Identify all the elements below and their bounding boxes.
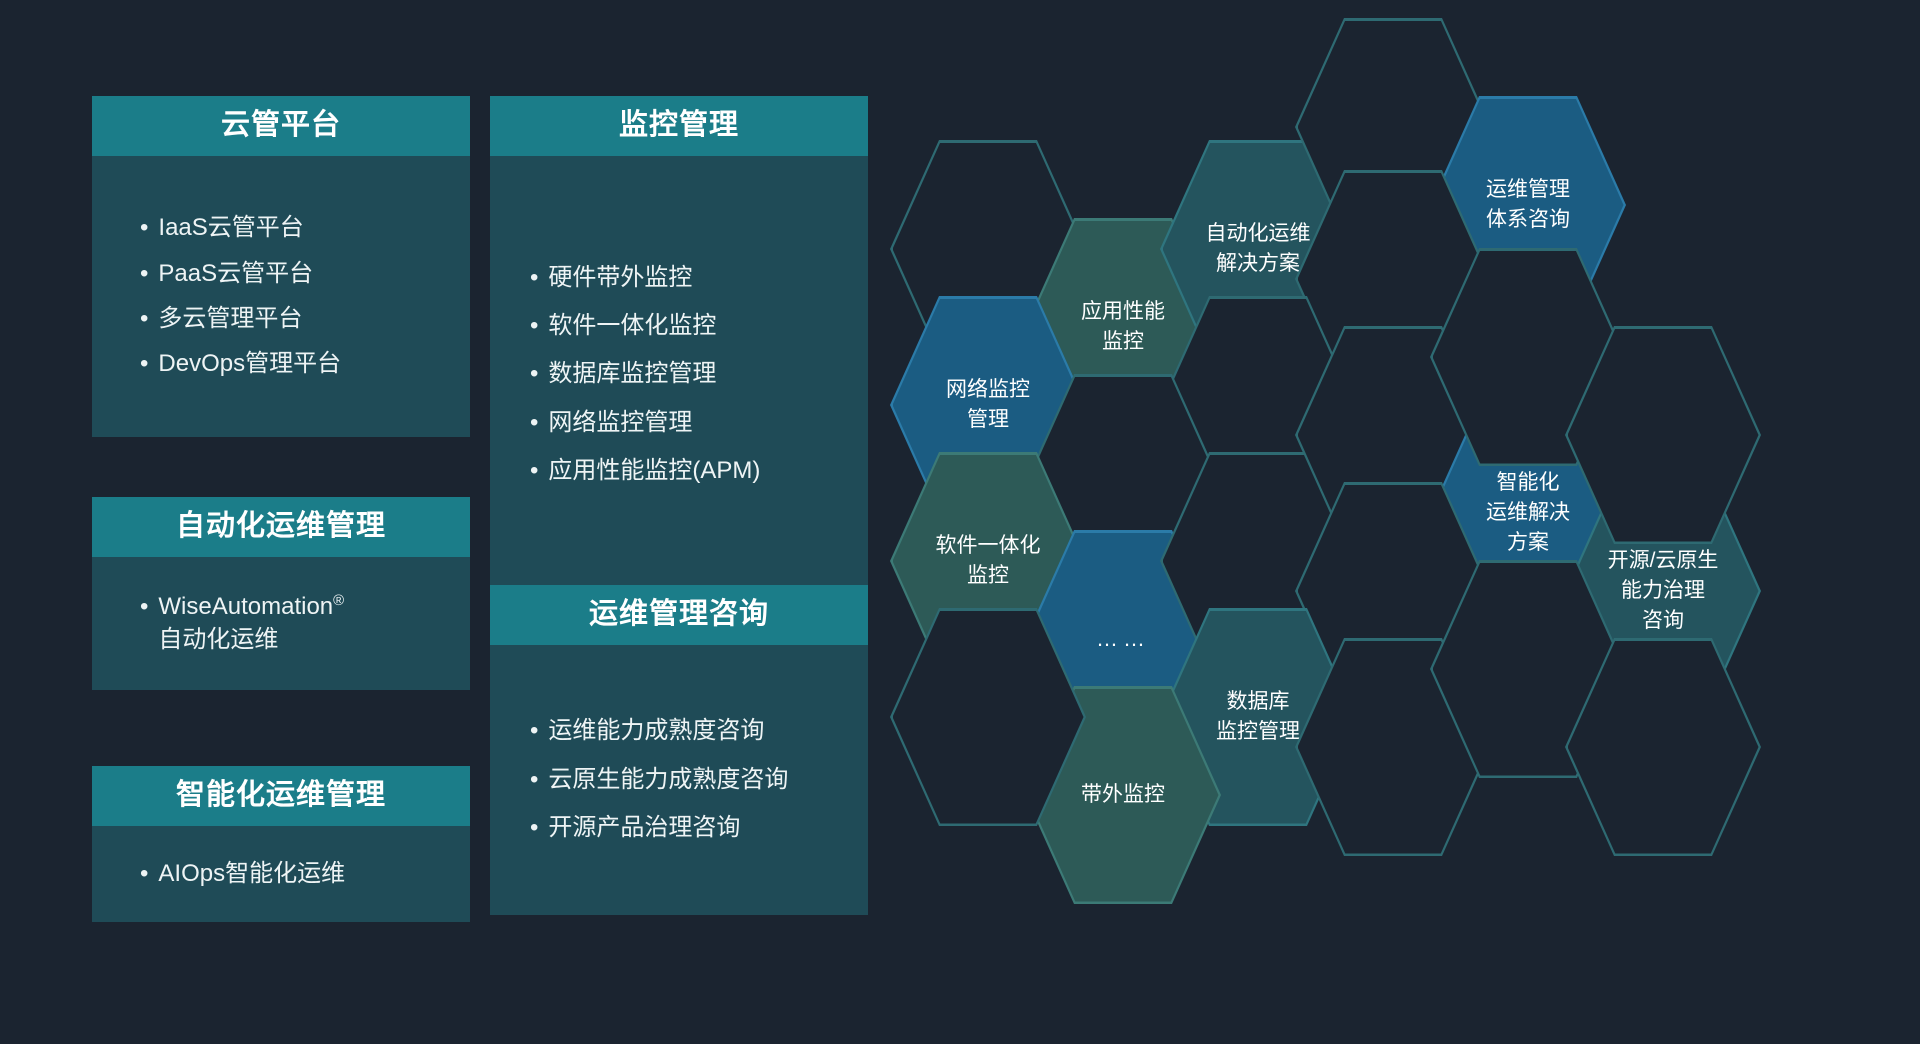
card-title: 运维管理咨询 bbox=[490, 585, 868, 645]
card-ops-consulting[interactable]: 运维管理咨询 •运维能力成熟度咨询 •云原生能力成熟度咨询 •开源产品治理咨询 bbox=[490, 585, 868, 915]
hex-label: 智能化 运维解决 方案 bbox=[1468, 468, 1588, 557]
bullet-glyph: • bbox=[140, 212, 148, 244]
list-item-label: WiseAutomation®自动化运维 bbox=[158, 591, 470, 656]
bullet-glyph: • bbox=[530, 310, 538, 342]
list-item-label: AIOps智能化运维 bbox=[158, 858, 470, 890]
list-item-label: 开源产品治理咨询 bbox=[548, 812, 868, 844]
bullet-glyph: • bbox=[140, 348, 148, 380]
list-item: •网络监控管理 bbox=[530, 407, 868, 439]
bullet-glyph: • bbox=[140, 258, 148, 290]
list-item-label: 硬件带外监控 bbox=[548, 262, 868, 294]
hex-label: 网络监控 管理 bbox=[928, 375, 1048, 435]
bullet-glyph: • bbox=[530, 715, 538, 747]
list-item: •运维能力成熟度咨询 bbox=[530, 715, 868, 747]
card-title: 云管平台 bbox=[92, 96, 470, 156]
list-item-label: PaaS云管平台 bbox=[158, 258, 470, 290]
bullet-glyph: • bbox=[140, 591, 148, 623]
capability-cards-panel: 云管平台 •IaaS云管平台 •PaaS云管平台 •多云管理平台 •DevOps… bbox=[0, 0, 900, 1044]
diagram-root: 云管平台 •IaaS云管平台 •PaaS云管平台 •多云管理平台 •DevOps… bbox=[0, 0, 1920, 1044]
bullet-glyph: • bbox=[530, 764, 538, 796]
item-list: •AIOps智能化运维 bbox=[140, 845, 470, 903]
hex-label: 应用性能 监控 bbox=[1063, 297, 1183, 357]
card-item-list: •硬件带外监控 •软件一体化监控 •数据库监控管理 •网络监控管理 •应用性能监… bbox=[490, 156, 868, 593]
bullet-glyph: • bbox=[140, 303, 148, 335]
bullet-glyph: • bbox=[530, 455, 538, 487]
card-cloud-platform[interactable]: 云管平台 •IaaS云管平台 •PaaS云管平台 •多云管理平台 •DevOps… bbox=[92, 96, 470, 437]
list-item-label: 云原生能力成熟度咨询 bbox=[548, 764, 868, 796]
bullet-glyph: • bbox=[530, 812, 538, 844]
list-item-label: 应用性能监控(APM) bbox=[548, 455, 868, 487]
bullet-glyph: • bbox=[530, 407, 538, 439]
item-list: •运维能力成熟度咨询 •云原生能力成熟度咨询 •开源产品治理咨询 bbox=[530, 699, 868, 860]
list-item-label: 软件一体化监控 bbox=[548, 310, 868, 342]
list-item: •开源产品治理咨询 bbox=[530, 812, 868, 844]
item-list: •硬件带外监控 •软件一体化监控 •数据库监控管理 •网络监控管理 •应用性能监… bbox=[530, 246, 868, 504]
list-item: •多云管理平台 bbox=[140, 303, 470, 335]
hex-label: 带外监控 bbox=[1063, 780, 1183, 810]
hex-label: 软件一体化 监控 bbox=[918, 531, 1059, 591]
card-item-list: •WiseAutomation®自动化运维 bbox=[92, 557, 470, 690]
list-item-label: 数据库监控管理 bbox=[548, 358, 868, 390]
card-item-list: •IaaS云管平台 •PaaS云管平台 •多云管理平台 •DevOps管理平台 bbox=[92, 156, 470, 437]
list-item-label: DevOps管理平台 bbox=[158, 348, 470, 380]
list-item: •云原生能力成熟度咨询 bbox=[530, 764, 868, 796]
list-item-label: 运维能力成熟度咨询 bbox=[548, 715, 868, 747]
card-automation-ops[interactable]: 自动化运维管理 •WiseAutomation®自动化运维 bbox=[92, 497, 470, 690]
item-list: •WiseAutomation®自动化运维 bbox=[140, 578, 470, 669]
list-item: •WiseAutomation®自动化运维 bbox=[140, 591, 470, 656]
card-title: 监控管理 bbox=[490, 96, 868, 156]
card-monitoring-management[interactable]: 监控管理 •硬件带外监控 •软件一体化监控 •数据库监控管理 •网络监控管理 •… bbox=[490, 96, 868, 593]
list-item: •软件一体化监控 bbox=[530, 310, 868, 342]
bullet-glyph: • bbox=[530, 262, 538, 294]
hex-label: …… bbox=[1078, 623, 1168, 654]
list-item: •AIOps智能化运维 bbox=[140, 858, 470, 890]
list-item: •PaaS云管平台 bbox=[140, 258, 470, 290]
list-item: •硬件带外监控 bbox=[530, 262, 868, 294]
card-title: 智能化运维管理 bbox=[92, 766, 470, 826]
list-item-label: 多云管理平台 bbox=[158, 303, 470, 335]
list-item-label: IaaS云管平台 bbox=[158, 212, 470, 244]
list-item: •IaaS云管平台 bbox=[140, 212, 470, 244]
card-item-list: •AIOps智能化运维 bbox=[92, 826, 470, 922]
list-item: •DevOps管理平台 bbox=[140, 348, 470, 380]
card-intelligent-ops[interactable]: 智能化运维管理 •AIOps智能化运维 bbox=[92, 766, 470, 922]
bullet-glyph: • bbox=[140, 858, 148, 890]
list-item: •数据库监控管理 bbox=[530, 358, 868, 390]
card-item-list: •运维能力成熟度咨询 •云原生能力成熟度咨询 •开源产品治理咨询 bbox=[490, 645, 868, 915]
card-title: 自动化运维管理 bbox=[92, 497, 470, 557]
bullet-glyph: • bbox=[530, 358, 538, 390]
item-list: •IaaS云管平台 •PaaS云管平台 •多云管理平台 •DevOps管理平台 bbox=[140, 199, 470, 394]
list-item-label: 网络监控管理 bbox=[548, 407, 868, 439]
hex-label: 开源/云原生 能力治理 咨询 bbox=[1590, 546, 1737, 635]
list-item: •应用性能监控(APM) bbox=[530, 455, 868, 487]
hex-label: 运维管理 体系咨询 bbox=[1468, 175, 1588, 235]
hexagon-honeycomb: 应用性能 监控网络监控 管理自动化运维 解决方案运维管理 体系咨询软件一体化 监… bbox=[900, 0, 1920, 1044]
